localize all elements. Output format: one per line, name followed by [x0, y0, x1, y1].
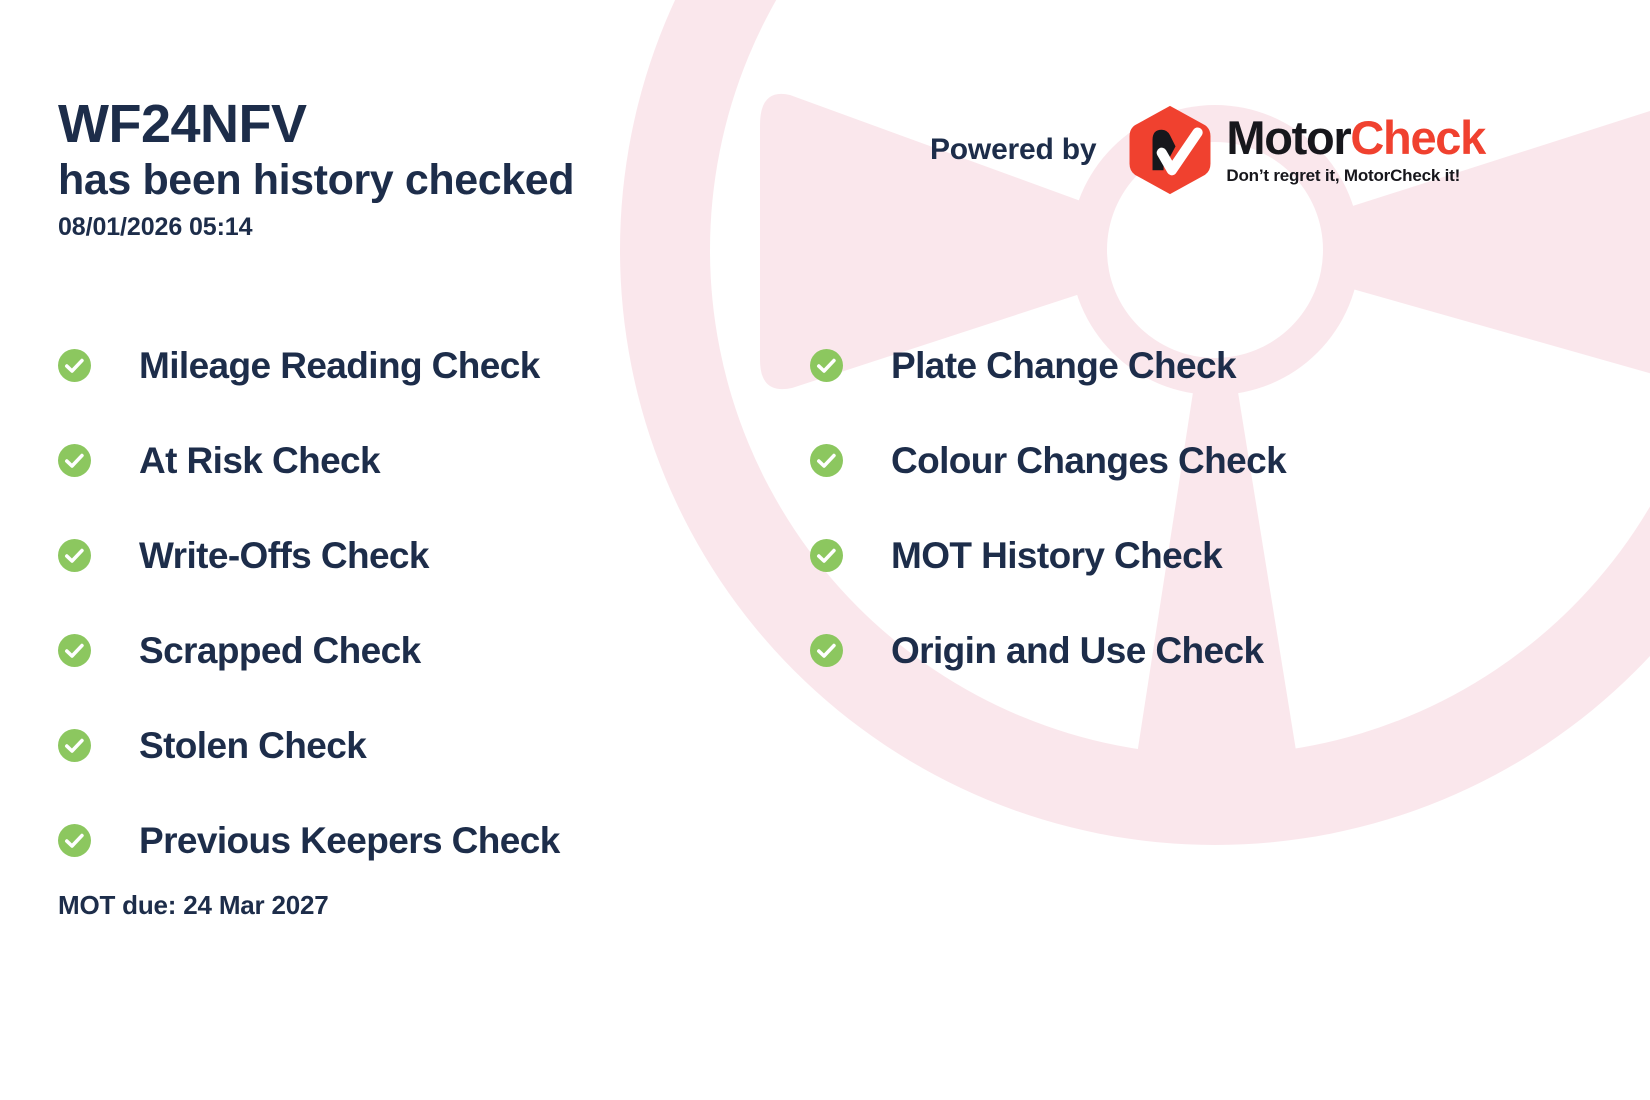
- check-circle-icon: [58, 824, 91, 857]
- check-list-item: Mileage Reading Check: [58, 318, 560, 413]
- powered-by-branding: Powered by MotorCheck Don’t regret it, M…: [930, 104, 1485, 196]
- motorcheck-wordmark: MotorCheck Don’t regret it, MotorCheck i…: [1226, 114, 1485, 186]
- check-list-item: Previous Keepers Check: [58, 793, 560, 888]
- check-circle-icon: [58, 539, 91, 572]
- wordmark-check: Check: [1350, 111, 1485, 164]
- motorcheck-hexagon-icon: [1124, 104, 1216, 196]
- check-timestamp: 08/01/2026 05:14: [58, 213, 574, 242]
- wordmark-motor: Motor: [1226, 111, 1350, 164]
- vehicle-registration: WF24NFV: [58, 96, 574, 153]
- check-label: Plate Change Check: [891, 345, 1236, 387]
- brand-tagline: Don’t regret it, MotorCheck it!: [1226, 166, 1485, 186]
- check-label: MOT History Check: [891, 535, 1222, 577]
- check-circle-icon: [810, 539, 843, 572]
- checks-column-right: Plate Change Check Colour Changes Check …: [810, 318, 1286, 698]
- report-header: WF24NFV has been history checked 08/01/2…: [58, 96, 574, 242]
- check-list-item: Colour Changes Check: [810, 413, 1286, 508]
- check-circle-icon: [58, 349, 91, 382]
- check-list-item: MOT History Check: [810, 508, 1286, 603]
- checks-column-left: Mileage Reading Check At Risk Check Writ…: [58, 318, 560, 888]
- page-title: has been history checked: [58, 155, 574, 206]
- check-circle-icon: [810, 349, 843, 382]
- check-list-item: At Risk Check: [58, 413, 560, 508]
- check-list-item: Origin and Use Check: [810, 603, 1286, 698]
- check-circle-icon: [810, 634, 843, 667]
- check-label: Colour Changes Check: [891, 440, 1286, 482]
- check-label: Previous Keepers Check: [139, 820, 560, 862]
- check-circle-icon: [58, 729, 91, 762]
- check-list-item: Plate Change Check: [810, 318, 1286, 413]
- vehicle-history-check-card: WF24NFV has been history checked 08/01/2…: [0, 0, 1650, 1100]
- check-circle-icon: [58, 634, 91, 667]
- check-label: Write-Offs Check: [139, 535, 429, 577]
- powered-by-label: Powered by: [930, 133, 1096, 167]
- mot-due-text: MOT due: 24 Mar 2027: [58, 890, 329, 921]
- check-circle-icon: [58, 444, 91, 477]
- wordmark-line: MotorCheck: [1226, 114, 1485, 161]
- check-list-item: Scrapped Check: [58, 603, 560, 698]
- check-label: Origin and Use Check: [891, 630, 1264, 672]
- check-label: Mileage Reading Check: [139, 345, 540, 387]
- check-label: At Risk Check: [139, 440, 380, 482]
- check-label: Scrapped Check: [139, 630, 421, 672]
- check-list-item: Write-Offs Check: [58, 508, 560, 603]
- check-list-item: Stolen Check: [58, 698, 560, 793]
- check-circle-icon: [810, 444, 843, 477]
- motorcheck-logo: MotorCheck Don’t regret it, MotorCheck i…: [1124, 104, 1485, 196]
- check-label: Stolen Check: [139, 725, 366, 767]
